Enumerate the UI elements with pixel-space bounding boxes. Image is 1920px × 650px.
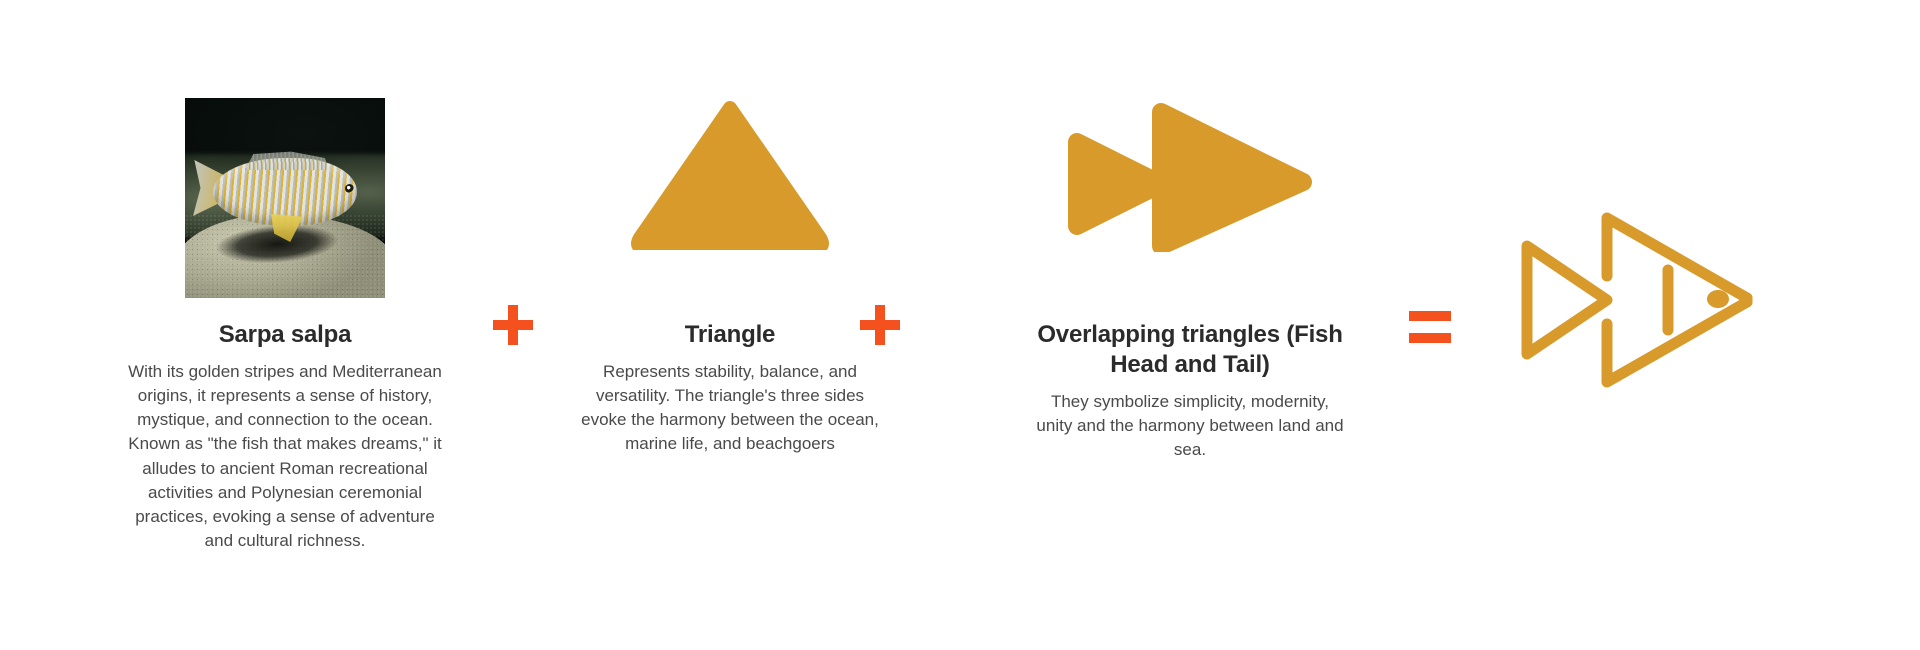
fish-tail-triangle: [1077, 142, 1161, 226]
plus-icon: [860, 305, 900, 345]
concept-column-sarpa-salpa: Sarpa salpa With its golden stripes and …: [100, 0, 470, 553]
logo-head-upper-edge: [1607, 218, 1747, 298]
fish-logo-outline-icon: [1515, 208, 1765, 393]
fish-logo-visual: [1470, 0, 1810, 408]
logo-eye-dot: [1707, 290, 1729, 308]
triangle-visual: [560, 0, 900, 298]
operator-equals: [1395, 292, 1465, 362]
concept-description-sarpa-salpa: With its golden stripes and Mediterranea…: [120, 360, 450, 553]
concept-title-sarpa-salpa: Sarpa salpa: [219, 320, 352, 350]
logo-tail-triangle: [1527, 246, 1607, 354]
equals-icon: [1409, 311, 1451, 343]
operator-plus-2: [845, 290, 915, 360]
concept-description-overlapping-triangles: They symbolize simplicity, modernity, un…: [1035, 390, 1345, 462]
concept-title-overlapping-triangles: Overlapping triangles (Fish Head and Tai…: [1010, 320, 1370, 380]
solid-triangle-path: [638, 108, 822, 248]
operator-plus-1: [478, 290, 548, 360]
fish-head-triangle: [1161, 112, 1303, 246]
solid-triangle-icon: [630, 100, 830, 250]
concept-column-result-logo: [1470, 0, 1810, 408]
equals-icon-top-bar: [1409, 311, 1451, 321]
concept-description-triangle: Represents stability, balance, and versa…: [575, 360, 885, 457]
concept-title-triangle: Triangle: [685, 320, 775, 350]
plus-icon-vertical-bar: [875, 305, 885, 345]
equals-icon-bottom-bar: [1409, 333, 1451, 343]
plus-icon: [493, 305, 533, 345]
plus-icon-vertical-bar: [508, 305, 518, 345]
overlapping-triangles-visual: [1010, 0, 1370, 298]
concept-column-overlapping-triangles: Overlapping triangles (Fish Head and Tai…: [1010, 0, 1370, 462]
sarpa-salpa-visual: [100, 0, 470, 298]
logo-head-lower-edge: [1607, 302, 1747, 382]
sarpa-salpa-photo: [185, 98, 385, 298]
overlapping-triangles-icon: [1065, 100, 1315, 252]
concept-column-triangle: Triangle Represents stability, balance, …: [560, 0, 900, 457]
concept-formula-board: Sarpa salpa With its golden stripes and …: [0, 0, 1920, 650]
